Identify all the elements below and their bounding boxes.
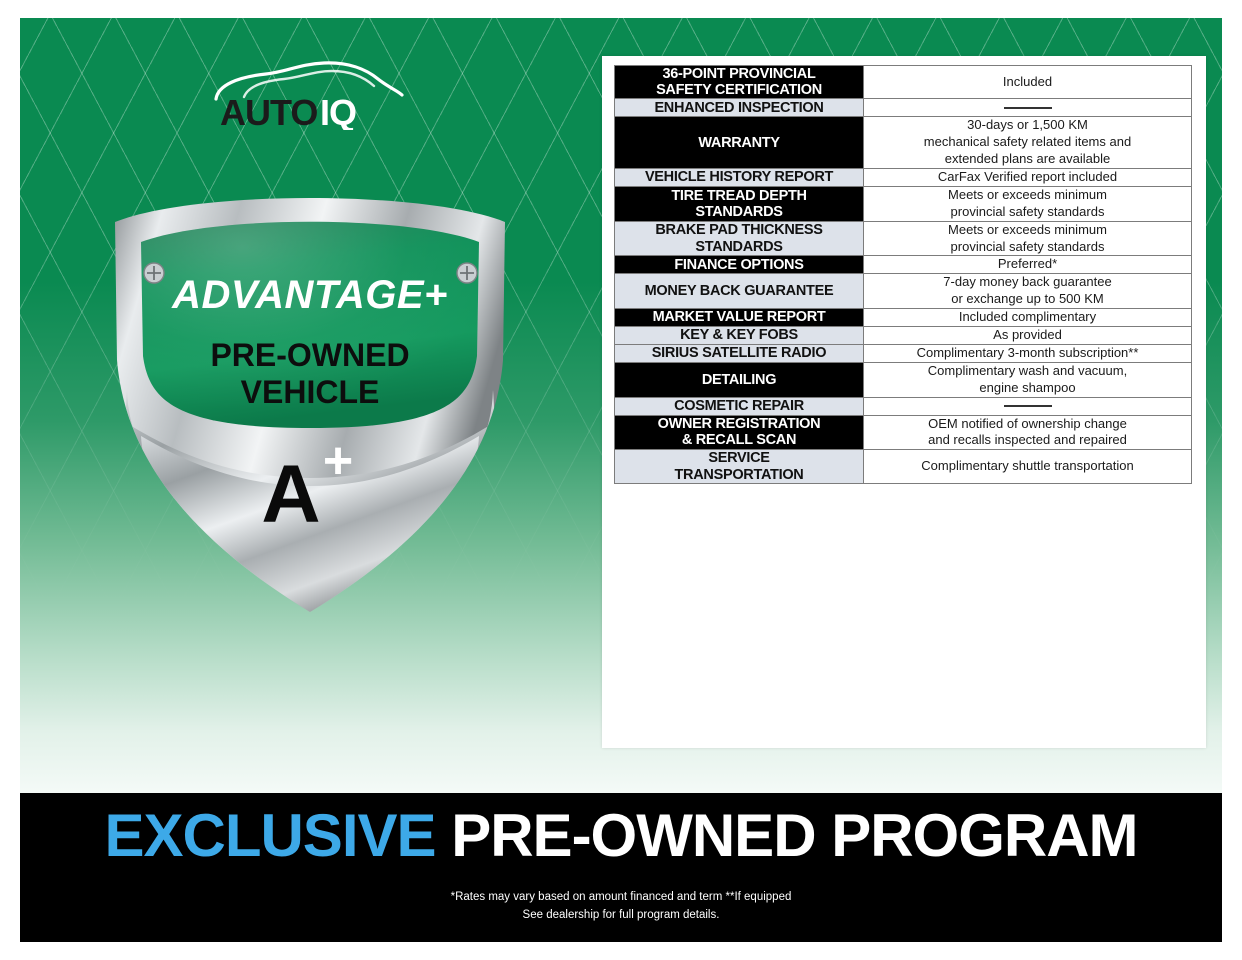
feature-label-line: STANDARDS [615, 204, 863, 220]
car-silhouette-icon: AUTO IQ [208, 55, 408, 130]
feature-value-line: Complimentary shuttle transportation [864, 458, 1191, 475]
feature-value-line: Complimentary 3-month subscription** [864, 345, 1191, 362]
table-row: 36-POINT PROVINCIALSAFETY CERTIFICATIONI… [615, 66, 1192, 99]
feature-value-cell: Complimentary wash and vacuum,engine sha… [864, 362, 1192, 397]
table-row: KEY & KEY FOBSAs provided [615, 327, 1192, 345]
table-row: FINANCE OPTIONSPreferred* [615, 256, 1192, 274]
feature-label-line: SAFETY CERTIFICATION [615, 82, 863, 98]
feature-value-line: and recalls inspected and repaired [864, 432, 1191, 449]
shield-screw-left [144, 263, 164, 283]
feature-value-line: provincial safety standards [864, 204, 1191, 221]
feature-label-cell: KEY & KEY FOBS [615, 327, 864, 345]
feature-label-line: TIRE TREAD DEPTH [615, 188, 863, 204]
feature-value-line: engine shampoo [864, 380, 1191, 397]
feature-value-cell: Meets or exceeds minimumprovincial safet… [864, 186, 1192, 221]
feature-value-line: provincial safety standards [864, 239, 1191, 256]
table-row: SIRIUS SATELLITE RADIOComplimentary 3-mo… [615, 344, 1192, 362]
feature-value-line: Included [864, 74, 1191, 91]
feature-value-cell: As provided [864, 327, 1192, 345]
program-features-table: 36-POINT PROVINCIALSAFETY CERTIFICATIONI… [614, 65, 1192, 484]
feature-value-cell: Included complimentary [864, 309, 1192, 327]
banner-title-highlight: EXCLUSIVE [104, 802, 435, 869]
program-features-table-frame: 36-POINT PROVINCIALSAFETY CERTIFICATIONI… [602, 56, 1206, 748]
feature-label-line: OWNER REGISTRATION [615, 416, 863, 432]
table-body: 36-POINT PROVINCIALSAFETY CERTIFICATIONI… [615, 66, 1192, 484]
feature-value-line: Meets or exceeds minimum [864, 222, 1191, 239]
feature-value-cell: OEM notified of ownership changeand reca… [864, 415, 1192, 450]
banner-title-rest: PRE-OWNED PROGRAM [451, 802, 1137, 869]
feature-value-line: CarFax Verified report included [864, 169, 1191, 186]
feature-label-line: 36-POINT PROVINCIAL [615, 66, 863, 82]
badge-title: ADVANTAGE+ [171, 273, 448, 317]
feature-label-line: DETAILING [615, 372, 863, 388]
feature-value-line: extended plans are available [864, 151, 1191, 168]
feature-value-line: Preferred* [864, 256, 1191, 273]
table-row: BRAKE PAD THICKNESSSTANDARDSMeets or exc… [615, 221, 1192, 256]
feature-value-cell [864, 99, 1192, 117]
shield-screw-right [457, 263, 477, 283]
feature-value-cell: Meets or exceeds minimumprovincial safet… [864, 221, 1192, 256]
feature-value-line: Complimentary wash and vacuum, [864, 363, 1191, 380]
feature-value-line: mechanical safety related items and [864, 134, 1191, 151]
advantage-plus-program-sheet: AUTO IQ [0, 0, 1242, 960]
feature-value-cell: CarFax Verified report included [864, 169, 1192, 187]
feature-label-line: ENHANCED INSPECTION [615, 100, 863, 116]
feature-label-cell: ENHANCED INSPECTION [615, 99, 864, 117]
bottom-banner: EXCLUSIVE PRE-OWNED PROGRAM *Rates may v… [20, 793, 1222, 942]
autoiq-logo: AUTO IQ [208, 55, 408, 130]
logo-word-iq: IQ [320, 92, 356, 130]
feature-value-line: 30-days or 1,500 KM [864, 117, 1191, 134]
feature-label-cell: FINANCE OPTIONS [615, 256, 864, 274]
feature-label-line: WARRANTY [615, 135, 863, 151]
table-row: WARRANTY30-days or 1,500 KMmechanical sa… [615, 117, 1192, 169]
feature-label-cell: BRAKE PAD THICKNESSSTANDARDS [615, 221, 864, 256]
feature-label-line: COSMETIC REPAIR [615, 398, 863, 414]
badge-subtitle-line1: PRE-OWNED [210, 337, 409, 373]
feature-label-line: MARKET VALUE REPORT [615, 309, 863, 325]
feature-label-line: KEY & KEY FOBS [615, 327, 863, 343]
feature-label-line: VEHICLE HISTORY REPORT [615, 169, 863, 185]
table-row: COSMETIC REPAIR [615, 397, 1192, 415]
feature-label-line: & RECALL SCAN [615, 432, 863, 448]
feature-label-line: SIRIUS SATELLITE RADIO [615, 345, 863, 361]
feature-label-line: STANDARDS [615, 239, 863, 255]
advantage-plus-shield-badge: ADVANTAGE+ PRE-OWNED VEHICLE A + [95, 160, 525, 630]
table-row: DETAILINGComplimentary wash and vacuum,e… [615, 362, 1192, 397]
feature-label-cell: OWNER REGISTRATION& RECALL SCAN [615, 415, 864, 450]
feature-label-cell: SERVICETRANSPORTATION [615, 450, 864, 483]
fineprint-line-2: See dealership for full program details. [20, 907, 1222, 925]
feature-value-cell: Preferred* [864, 256, 1192, 274]
feature-value-line: or exchange up to 500 KM [864, 291, 1191, 308]
feature-value-cell: Included [864, 66, 1192, 99]
feature-value-line: 7-day money back guarantee [864, 274, 1191, 291]
feature-value-line: Included complimentary [864, 309, 1191, 326]
feature-value-line: Meets or exceeds minimum [864, 187, 1191, 204]
feature-value-cell: 30-days or 1,500 KMmechanical safety rel… [864, 117, 1192, 169]
grade-letter: A [261, 449, 320, 540]
feature-label-line: BRAKE PAD THICKNESS [615, 222, 863, 238]
feature-label-cell: VEHICLE HISTORY REPORT [615, 169, 864, 187]
banner-fineprint: *Rates may vary based on amount financed… [20, 889, 1222, 925]
feature-value-cell: 7-day money back guaranteeor exchange up… [864, 274, 1192, 309]
feature-label-cell: TIRE TREAD DEPTHSTANDARDS [615, 186, 864, 221]
feature-value-line: OEM notified of ownership change [864, 416, 1191, 433]
grade-plus: + [323, 432, 353, 490]
feature-label-line: FINANCE OPTIONS [615, 257, 863, 273]
feature-label-line: MONEY BACK GUARANTEE [615, 283, 863, 299]
table-row: VEHICLE HISTORY REPORTCarFax Verified re… [615, 169, 1192, 187]
feature-label-line: TRANSPORTATION [615, 467, 863, 483]
not-applicable-dash-icon [1004, 107, 1052, 109]
feature-value-cell: Complimentary 3-month subscription** [864, 344, 1192, 362]
fineprint-line-1: *Rates may vary based on amount financed… [20, 889, 1222, 907]
table-row: MONEY BACK GUARANTEE7-day money back gua… [615, 274, 1192, 309]
table-row: OWNER REGISTRATION& RECALL SCANOEM notif… [615, 415, 1192, 450]
table-row: TIRE TREAD DEPTHSTANDARDSMeets or exceed… [615, 186, 1192, 221]
feature-label-line: SERVICE [615, 450, 863, 466]
table-row: MARKET VALUE REPORTIncluded complimentar… [615, 309, 1192, 327]
feature-value-cell [864, 397, 1192, 415]
feature-label-cell: 36-POINT PROVINCIALSAFETY CERTIFICATION [615, 66, 864, 99]
badge-subtitle-line2: VEHICLE [241, 374, 380, 410]
not-applicable-dash-icon [1004, 405, 1052, 407]
feature-label-cell: MONEY BACK GUARANTEE [615, 274, 864, 309]
feature-label-cell: DETAILING [615, 362, 864, 397]
table-row: SERVICETRANSPORTATIONComplimentary shutt… [615, 450, 1192, 483]
table-row: ENHANCED INSPECTION [615, 99, 1192, 117]
feature-value-line: As provided [864, 327, 1191, 344]
feature-value-cell: Complimentary shuttle transportation [864, 450, 1192, 483]
banner-title: EXCLUSIVE PRE-OWNED PROGRAM [20, 806, 1222, 866]
feature-label-cell: MARKET VALUE REPORT [615, 309, 864, 327]
feature-label-cell: SIRIUS SATELLITE RADIO [615, 344, 864, 362]
feature-label-cell: WARRANTY [615, 117, 864, 169]
logo-word-auto: AUTO [220, 92, 317, 130]
feature-label-cell: COSMETIC REPAIR [615, 397, 864, 415]
